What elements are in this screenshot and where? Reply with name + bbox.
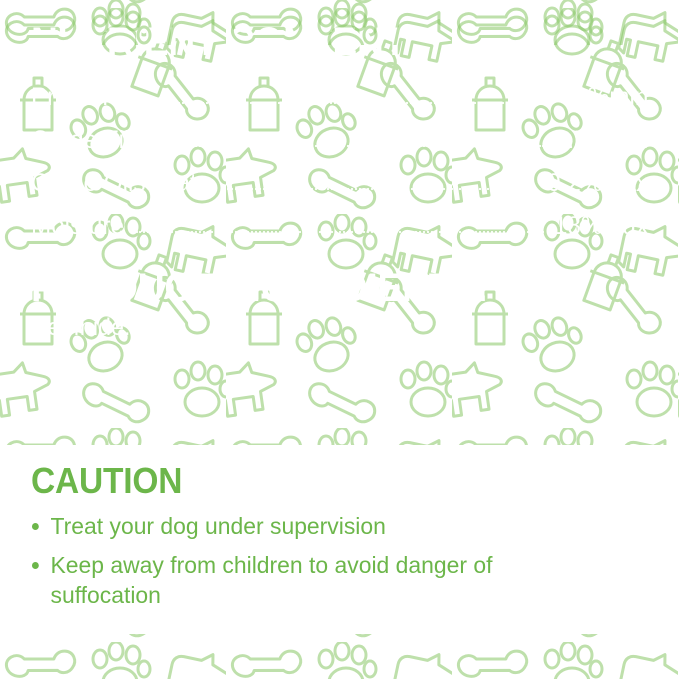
pet-treat-label: NUTRIENT CONTENT Protein 80%min Crude Fi… bbox=[0, 0, 679, 679]
caution-item-text: Treat your dog under supervision bbox=[51, 513, 386, 539]
caution-heading: CAUTION bbox=[31, 463, 182, 499]
nutrient-row: Crude Oils&Fats 0.2%max bbox=[31, 154, 648, 197]
bullet-icon bbox=[32, 523, 39, 530]
product-ingredients-body: Beefhide. bbox=[32, 313, 130, 343]
caution-list-item: Treat your dog under supervision bbox=[31, 511, 577, 541]
nutrient-name: Crude Fiber bbox=[31, 126, 159, 154]
nutrient-row: Crude Fiber 0.5%min bbox=[31, 111, 648, 154]
nutrient-value: 18%max bbox=[554, 212, 648, 240]
nutrient-value: 0.2%max bbox=[547, 169, 648, 197]
nutrient-value: 0.5%min bbox=[554, 126, 648, 154]
caution-list: Treat your dog under supervision Keep aw… bbox=[31, 511, 591, 619]
nutrient-name: Moisture bbox=[31, 212, 124, 240]
leader-dots bbox=[119, 100, 550, 104]
product-ingredients-heading: PRODUCT INGREDIENTS: bbox=[31, 268, 488, 308]
nutrient-name: Crude Oils&Fats bbox=[31, 169, 209, 197]
caution-item-text: Keep away from children to avoid danger … bbox=[51, 552, 493, 608]
leader-dots bbox=[172, 143, 544, 147]
leader-dots bbox=[136, 229, 544, 233]
caution-list-item: Keep away from children to avoid danger … bbox=[31, 550, 577, 610]
nutrient-content-heading: NUTRIENT CONTENT bbox=[31, 22, 406, 62]
nutrient-name: Protein bbox=[31, 83, 108, 111]
nutrient-row: Moisture 18%max bbox=[31, 197, 648, 240]
nutrient-table: Protein 80%min Crude Fiber 0.5%min Crude… bbox=[31, 68, 648, 240]
nutrient-row: Protein 80%min bbox=[31, 68, 648, 111]
caution-panel: CAUTION Treat your dog under supervision… bbox=[0, 445, 679, 634]
nutrient-value: 80%min bbox=[560, 83, 648, 111]
nutrient-and-ingredients-panel: NUTRIENT CONTENT Protein 80%min Crude Fi… bbox=[0, 0, 679, 445]
bullet-icon bbox=[32, 562, 39, 569]
leader-dots bbox=[223, 186, 536, 190]
